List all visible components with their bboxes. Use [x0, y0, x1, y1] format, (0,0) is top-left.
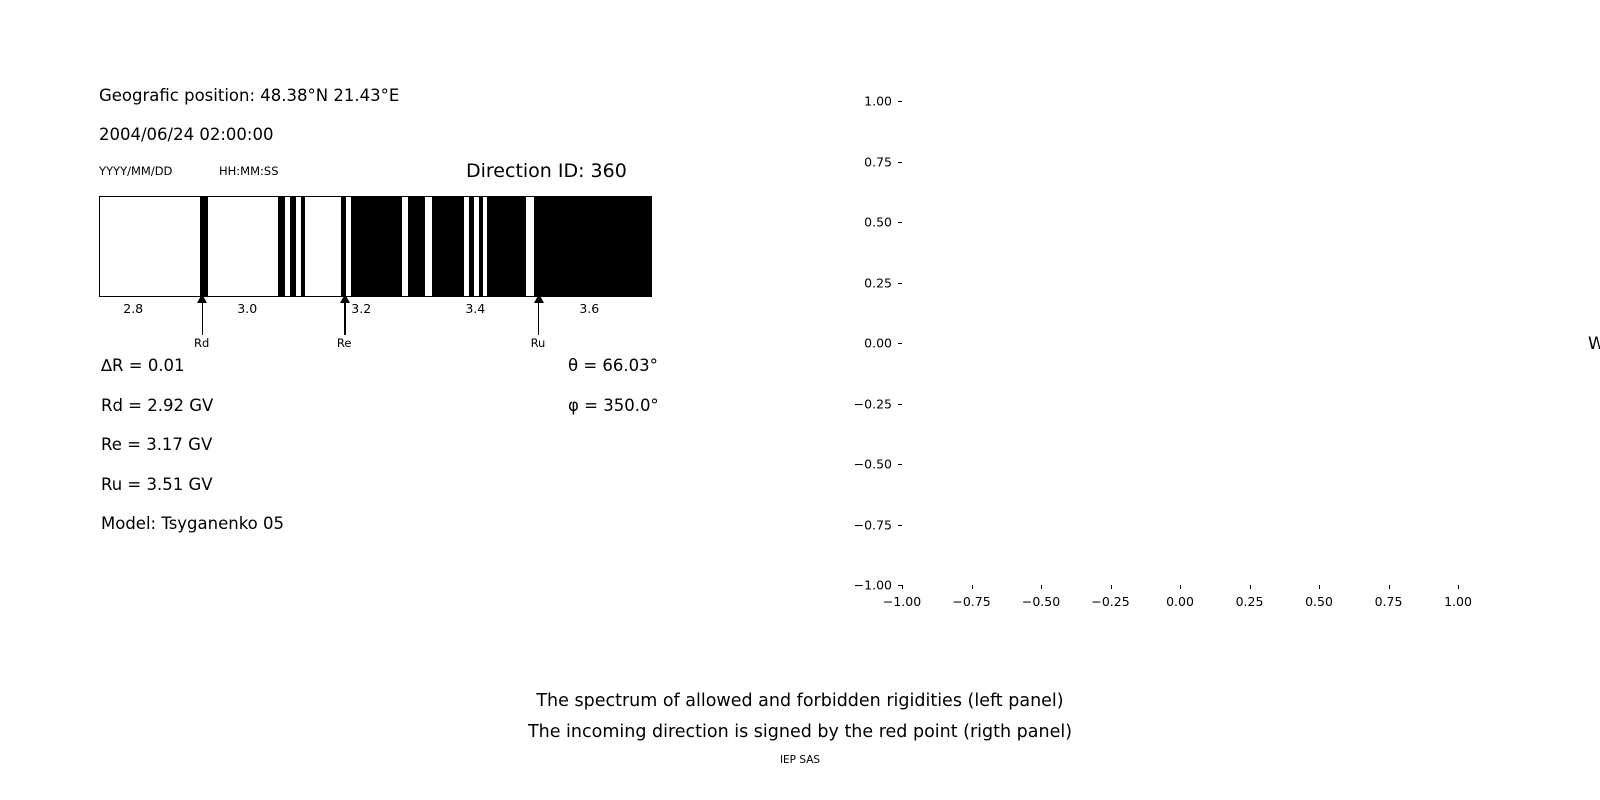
x-tick-label: 1.00: [1444, 594, 1472, 609]
x-tick-label: 0.75: [1375, 594, 1403, 609]
spectrum-marker-label: Re: [337, 336, 352, 350]
y-tick-label: 0.75: [846, 154, 892, 169]
x-tick-label: −1.00: [883, 594, 921, 609]
spectrum-forbidden-band: [301, 197, 305, 296]
figure-caption: The spectrum of allowed and forbidden ri…: [0, 686, 1600, 748]
y-tick-label: −0.75: [846, 517, 892, 532]
x-tick-label: −0.50: [1022, 594, 1060, 609]
parameter-right-0: θ = 66.03°: [568, 356, 658, 375]
date-format-hint: YYYY/MM/DD: [99, 164, 172, 178]
x-tickmark: [902, 585, 903, 589]
caption-line-1: The spectrum of allowed and forbidden ri…: [0, 686, 1600, 717]
spectrum-forbidden-band: [351, 197, 402, 296]
caption-line-2: The incoming direction is signed by the …: [0, 717, 1600, 748]
y-tickmark: [898, 464, 902, 465]
spectrum-forbidden-band: [469, 197, 474, 296]
x-tickmark: [1319, 585, 1320, 589]
y-tickmark: [898, 162, 902, 163]
arrow-up-icon: [534, 294, 544, 303]
spectrum-xtick-label: 3.0: [237, 301, 257, 316]
parameter-left-2: Re = 3.17 GV: [101, 435, 212, 454]
spectrum-forbidden-band: [432, 197, 464, 296]
arrow-up-icon: [340, 294, 350, 303]
parameter-right-1: φ = 350.0°: [568, 396, 659, 415]
x-tick-label: 0.00: [1166, 594, 1194, 609]
x-tickmark: [1041, 585, 1042, 589]
y-tick-label: 1.00: [846, 94, 892, 109]
spectrum-forbidden-band: [408, 197, 425, 296]
y-tickmark: [898, 101, 902, 102]
spectrum-forbidden-band: [341, 197, 346, 296]
spectrum-marker-label: Ru: [531, 336, 546, 350]
y-tickmark: [898, 222, 902, 223]
x-tick-label: −0.75: [952, 594, 990, 609]
spectrum-forbidden-band: [278, 197, 284, 296]
parameter-left-4: Model: Tsyganenko 05: [101, 514, 284, 533]
institution-credit: IEP SAS: [0, 754, 1600, 766]
time-format-hint: HH:MM:SS: [219, 164, 279, 178]
direction-map-panel: N S W E −1.00−0.75−0.50−0.250.000.250.50…: [760, 0, 1600, 680]
y-tick-label: 0.25: [846, 275, 892, 290]
spectrum-forbidden-band: [534, 197, 652, 296]
arrow-up-icon: [197, 294, 207, 303]
y-tickmark: [898, 404, 902, 405]
compass-west-label: W: [1588, 334, 1600, 354]
datetime-label: 2004/06/24 02:00:00: [99, 125, 273, 144]
y-tick-label: 0.00: [846, 336, 892, 351]
x-tickmark: [1389, 585, 1390, 589]
y-tick-label: 0.50: [846, 215, 892, 230]
parameter-left-0: ∆R = 0.01: [101, 356, 185, 375]
y-tick-label: −0.25: [846, 396, 892, 411]
geographic-position-label: Geografic position: 48.38°N 21.43°E: [99, 86, 399, 105]
rigidity-spectrum-panel: Geografic position: 48.38°N 21.43°E 2004…: [0, 0, 760, 680]
spectrum-xtick-label: 2.8: [123, 301, 143, 316]
spectrum-xtick-label: 3.2: [351, 301, 371, 316]
x-tickmark: [1458, 585, 1459, 589]
spectrum-xtick-label: 3.6: [579, 301, 599, 316]
spectrum-forbidden-band: [200, 197, 209, 296]
y-tick-label: −1.00: [846, 578, 892, 593]
direction-id-label: Direction ID: 360: [466, 160, 627, 182]
y-tickmark: [898, 343, 902, 344]
x-tick-label: 0.50: [1305, 594, 1333, 609]
rigidity-spectrum-axis: 2.83.03.23.43.6RdReRu: [99, 297, 652, 357]
parameter-left-3: Ru = 3.51 GV: [101, 475, 213, 494]
x-tick-label: −0.25: [1091, 594, 1129, 609]
spectrum-forbidden-band: [479, 197, 484, 296]
spectrum-marker-label: Rd: [194, 336, 209, 350]
y-tickmark: [898, 525, 902, 526]
spectrum-xtick-label: 3.4: [465, 301, 485, 316]
x-tickmark: [1111, 585, 1112, 589]
x-tickmark: [1250, 585, 1251, 589]
y-tickmark: [898, 283, 902, 284]
rigidity-spectrum-chart: [99, 196, 652, 297]
x-tick-label: 0.25: [1236, 594, 1264, 609]
x-tickmark: [1180, 585, 1181, 589]
spectrum-forbidden-band: [290, 197, 296, 296]
y-tick-label: −0.50: [846, 457, 892, 472]
x-tickmark: [972, 585, 973, 589]
spectrum-forbidden-band: [487, 197, 526, 296]
parameter-left-1: Rd = 2.92 GV: [101, 396, 213, 415]
